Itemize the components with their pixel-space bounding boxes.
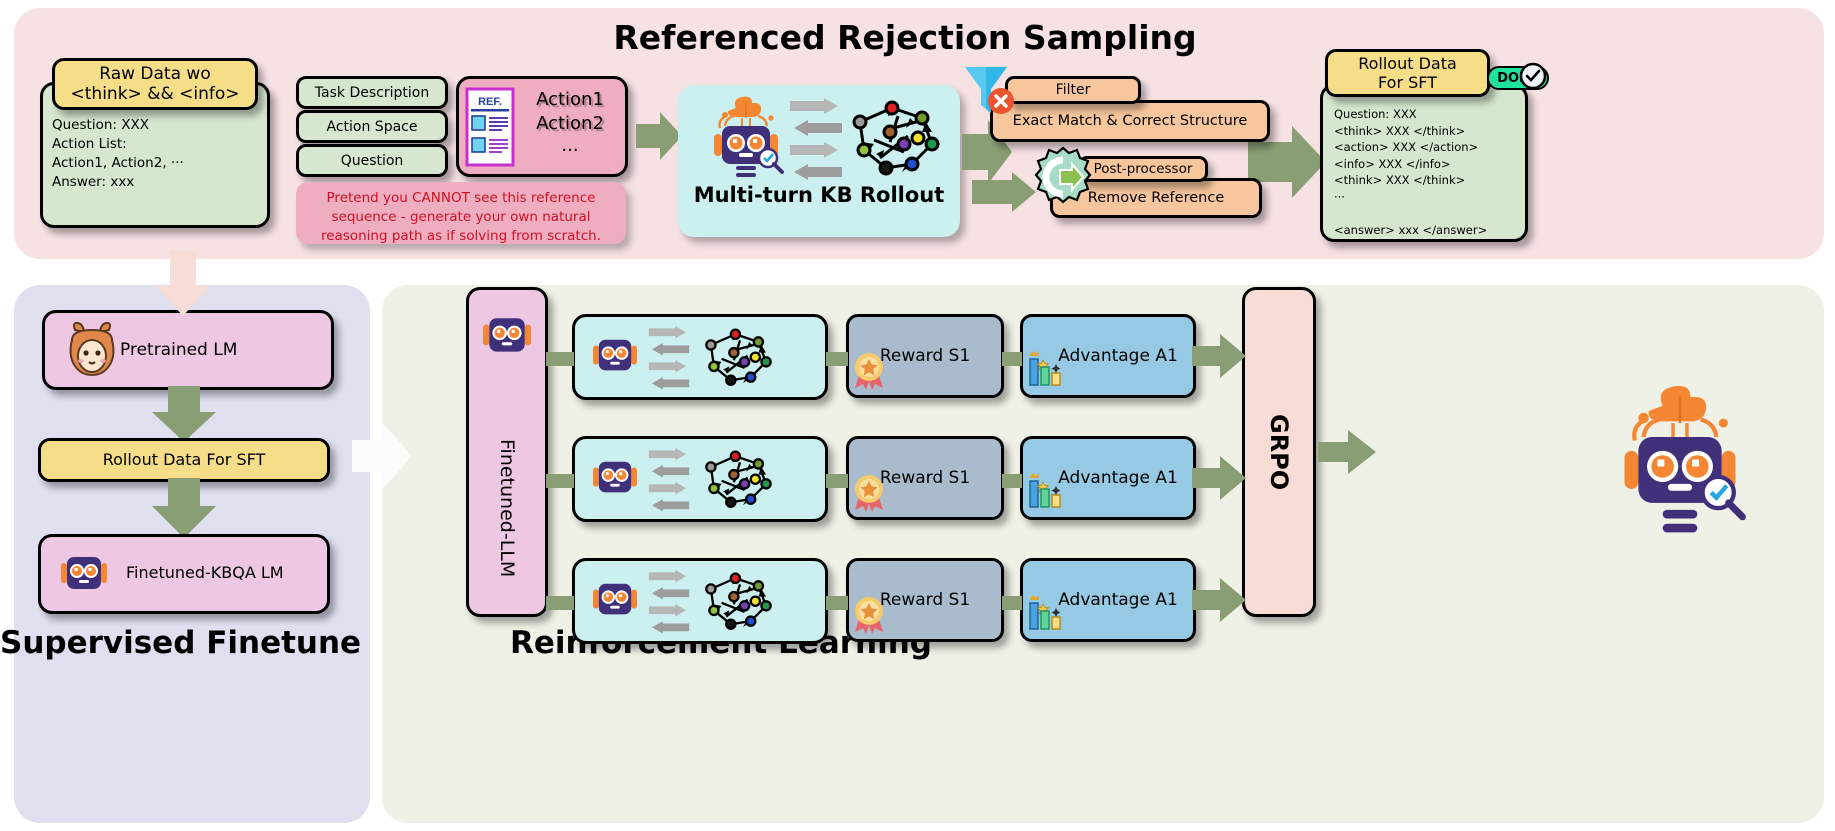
arrow-advantage-to-grpo-3 (1192, 576, 1248, 624)
exchange-arrows-icon (790, 98, 842, 178)
medal-icon (852, 596, 886, 634)
connector-model-to-rollout-2 (546, 468, 576, 494)
medal-icon (852, 474, 886, 512)
knowledge-graph-icon (700, 322, 780, 394)
sft-output-header: Rollout Data For SFT (1325, 49, 1490, 97)
knowledge-graph-icon (700, 444, 780, 516)
arrow-pretrained-to-data (146, 386, 222, 444)
arrow-sft-to-rl (352, 420, 414, 492)
connector-model-to-rollout-1 (546, 346, 576, 372)
ranking-bars-icon (1026, 470, 1068, 510)
medal-icon (852, 352, 886, 390)
pretrained-lm-label: Pretrained LM (120, 340, 320, 360)
exchange-arrows-icon (648, 326, 690, 388)
robot-small-icon (60, 551, 108, 597)
robot-small-icon (592, 578, 638, 622)
prompt-item-question[interactable]: Question (296, 144, 448, 177)
arrow-data-to-finetuned (146, 478, 222, 540)
prompt-item-action-space[interactable]: Action Space (296, 110, 448, 143)
reference-actions-list: Action1 Action2 (520, 88, 620, 136)
arrow-to-post-processor (972, 170, 1038, 214)
raw-data-body: Question: XXX Action List: Action1, Acti… (52, 116, 262, 192)
knowledge-graph-icon (846, 92, 950, 186)
llama-icon (62, 320, 122, 380)
raw-data-header-line1: Raw Data wo (99, 64, 210, 84)
arrow-rrs-to-sft (152, 250, 214, 318)
funnel-filter-icon (963, 63, 1015, 123)
grpo-label: GRPO (1265, 414, 1293, 490)
reference-actions-ellipsis: ··· (520, 140, 620, 161)
check-circle-icon (1519, 62, 1547, 90)
filter-header: Filter (1005, 76, 1141, 104)
reference-document-icon: REF. (466, 88, 514, 166)
robot-brain-icon (700, 92, 792, 184)
robot-brain-output-icon (1600, 378, 1760, 548)
robot-small-icon (592, 456, 638, 500)
finetuned-kbqa-label: Finetuned-KBQA LM (126, 563, 326, 582)
rrs-panel-title: Referenced Rejection Sampling (0, 18, 1810, 57)
arrow-grpo-to-output (1318, 428, 1378, 476)
knowledge-graph-icon (700, 566, 780, 638)
robot-small-icon (482, 312, 532, 360)
sft-output-header-line1: Rollout Data (1358, 54, 1457, 73)
ranking-bars-icon (1026, 348, 1068, 388)
raw-data-header: Raw Data wo <think> && <info> (52, 58, 258, 110)
finetuned-llm-label: Finetuned-LLM (496, 439, 518, 577)
arrow-advantage-to-grpo-1 (1192, 332, 1248, 380)
sft-output-body: Question: XXX <think> XXX </think> <acti… (1334, 106, 1534, 238)
filter-criteria: Exact Match & Correct Structure (990, 100, 1270, 142)
raw-data-header-line2: <think> && <info> (71, 84, 240, 104)
sft-output-header-line2: For SFT (1378, 73, 1437, 92)
exchange-arrows-icon (648, 448, 690, 510)
grpo-label-wrap: GRPO (1242, 287, 1316, 617)
ranking-bars-icon (1026, 592, 1068, 632)
connector-model-to-rollout-3 (546, 590, 576, 616)
arrow-prompt-to-rollout (636, 110, 684, 162)
exchange-arrows-icon (648, 570, 690, 632)
sft-rollout-data-label: Rollout Data For SFT (38, 450, 330, 469)
post-processor-header: Post-processor (1078, 156, 1208, 182)
arrow-advantage-to-grpo-2 (1192, 454, 1248, 502)
prompt-item-task-description[interactable]: Task Description (296, 76, 448, 109)
robot-small-icon (592, 334, 638, 378)
gear-settings-icon (1032, 146, 1094, 208)
svg-text:REF.: REF. (478, 96, 502, 108)
pretend-instruction-text: Pretend you CANNOT see this reference se… (300, 186, 622, 246)
multi-turn-rollout-label: Multi-turn KB Rollout (678, 183, 960, 207)
